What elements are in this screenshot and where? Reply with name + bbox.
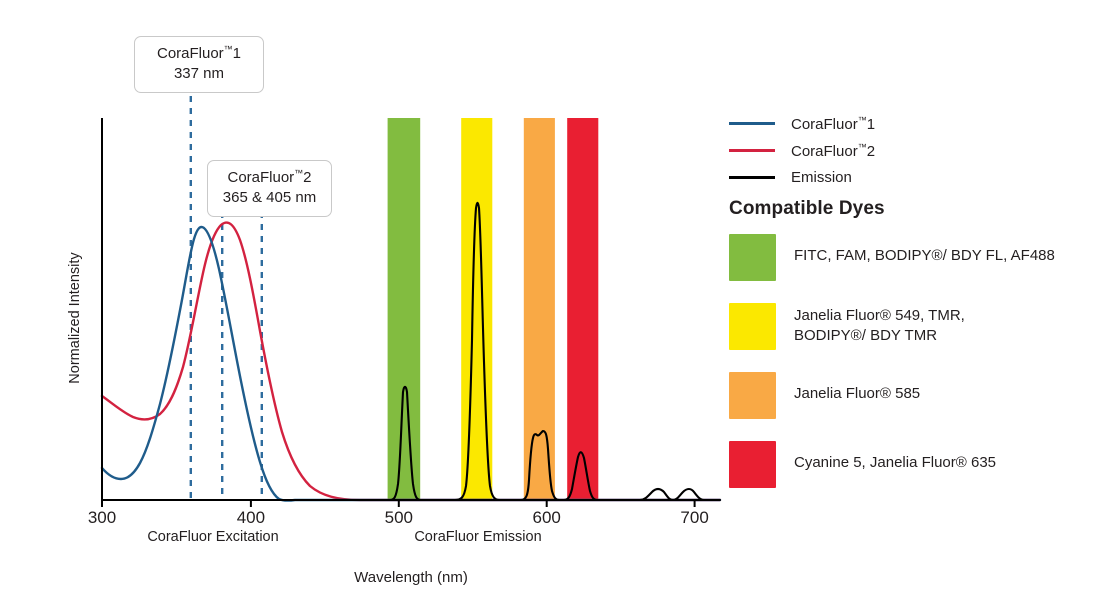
- callout-2-line1: CoraFluor™2: [220, 168, 319, 188]
- legend-label-corafluor-2: CoraFluor™2: [791, 142, 875, 160]
- dye-label-yellow: Janelia Fluor® 549, TMR, BODIPY®/ BDY TM…: [794, 303, 965, 347]
- callout-corafluor-2: CoraFluor™2 365 & 405 nm: [207, 160, 332, 217]
- tick-label-500: 500: [385, 508, 413, 527]
- dye-row-green: FITC, FAM, BODIPY®/ BDY FL, AF488: [729, 234, 1104, 281]
- dye-label-green: FITC, FAM, BODIPY®/ BDY FL, AF488: [794, 234, 1055, 266]
- dye-swatch-red: [729, 441, 776, 488]
- legend-item-corafluor-2: CoraFluor™2: [729, 137, 1099, 164]
- band-red: [567, 118, 598, 500]
- compatible-dyes-heading: Compatible Dyes: [729, 198, 885, 220]
- dye-swatch-orange: [729, 372, 776, 419]
- legend-label-emission: Emission: [791, 169, 852, 186]
- series-legend: CoraFluor™1 CoraFluor™2 Emission: [729, 110, 1099, 191]
- tick-label-300: 300: [88, 508, 116, 527]
- callout-1-line2: 337 nm: [147, 64, 251, 84]
- dye-label-yellow-line1: Janelia Fluor® 549, TMR,: [794, 307, 965, 324]
- emission-group-label: CoraFluor Emission: [414, 529, 541, 545]
- legend-label-corafluor-1: CoraFluor™1: [791, 115, 875, 133]
- callout-2-line2: 365 & 405 nm: [220, 188, 319, 208]
- legend-item-emission: Emission: [729, 164, 1099, 191]
- dye-swatch-green: [729, 234, 776, 281]
- emission-bands: [388, 118, 599, 500]
- dye-swatch-yellow: [729, 303, 776, 350]
- legend-line-swatch-corafluor-1: [729, 122, 775, 125]
- dye-row-red: Cyanine 5, Janelia Fluor® 635: [729, 441, 1104, 488]
- dye-label-yellow-line2: BODIPY®/ BDY TMR: [794, 327, 937, 344]
- dye-row-orange: Janelia Fluor® 585: [729, 372, 1104, 419]
- x-axis-title: Wavelength (nm): [354, 569, 468, 586]
- chart-container: 300 400 500 600 700 CoraFluor Excitation…: [0, 0, 1110, 612]
- excitation-group-label: CoraFluor Excitation: [147, 529, 278, 545]
- callout-1-line1: CoraFluor™1: [147, 44, 251, 64]
- band-green: [388, 118, 421, 500]
- legend-line-swatch-corafluor-2: [729, 149, 775, 152]
- legend-line-swatch-emission: [729, 176, 775, 179]
- excitation-marker-lines: [191, 96, 262, 500]
- y-axis-title: Normalized Intensity: [67, 252, 83, 384]
- tick-label-400: 400: [237, 508, 265, 527]
- callout-corafluor-1: CoraFluor™1 337 nm: [134, 36, 264, 93]
- tick-label-700: 700: [680, 508, 708, 527]
- tick-label-600: 600: [533, 508, 561, 527]
- dye-label-red: Cyanine 5, Janelia Fluor® 635: [794, 441, 996, 473]
- band-orange: [524, 118, 555, 500]
- legend-item-corafluor-1: CoraFluor™1: [729, 110, 1099, 137]
- dye-row-yellow: Janelia Fluor® 549, TMR, BODIPY®/ BDY TM…: [729, 303, 1104, 350]
- compatible-dyes-list: FITC, FAM, BODIPY®/ BDY FL, AF488 Janeli…: [729, 234, 1104, 510]
- dye-label-orange: Janelia Fluor® 585: [794, 372, 920, 404]
